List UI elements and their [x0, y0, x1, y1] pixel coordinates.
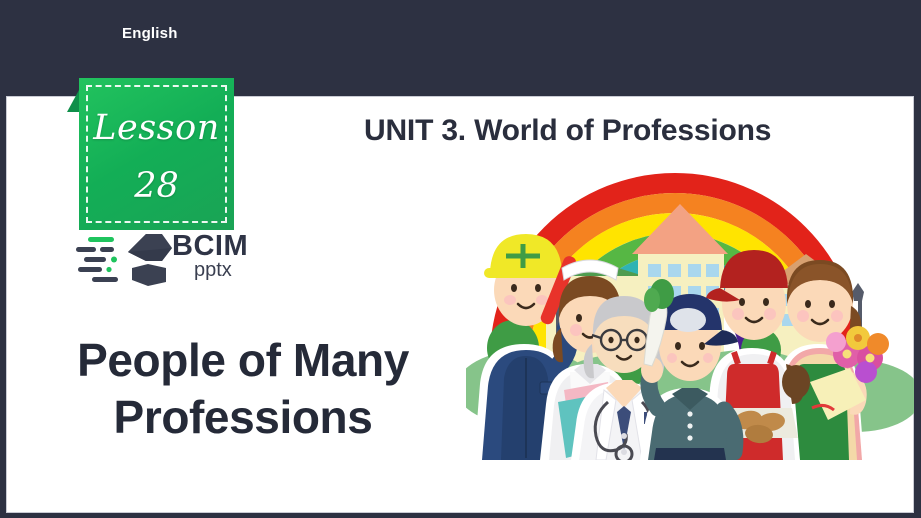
- lesson-number: 28: [79, 166, 234, 206]
- logo-suffix: pptx: [194, 260, 232, 280]
- bcim-logo: BCIM pptx: [76, 232, 241, 294]
- main-title-line-1: People of Many: [18, 332, 468, 389]
- lesson-word: Lesson: [79, 108, 234, 148]
- page-title: People of Many Professions: [18, 332, 468, 446]
- slide-root: English Lesson 28 BCIM ppt: [0, 0, 921, 518]
- logo-wordmark: BCIM: [172, 232, 248, 261]
- unit-title: UNIT 3. World of Professions: [364, 114, 771, 148]
- professions-group-illustration: [466, 158, 914, 460]
- subject-label: English: [122, 25, 178, 42]
- main-title-line-2: Professions: [18, 389, 468, 446]
- lesson-badge-box: Lesson 28: [79, 78, 234, 230]
- ribbon-fold-shape: [67, 90, 79, 112]
- lesson-badge: Lesson 28: [67, 78, 237, 230]
